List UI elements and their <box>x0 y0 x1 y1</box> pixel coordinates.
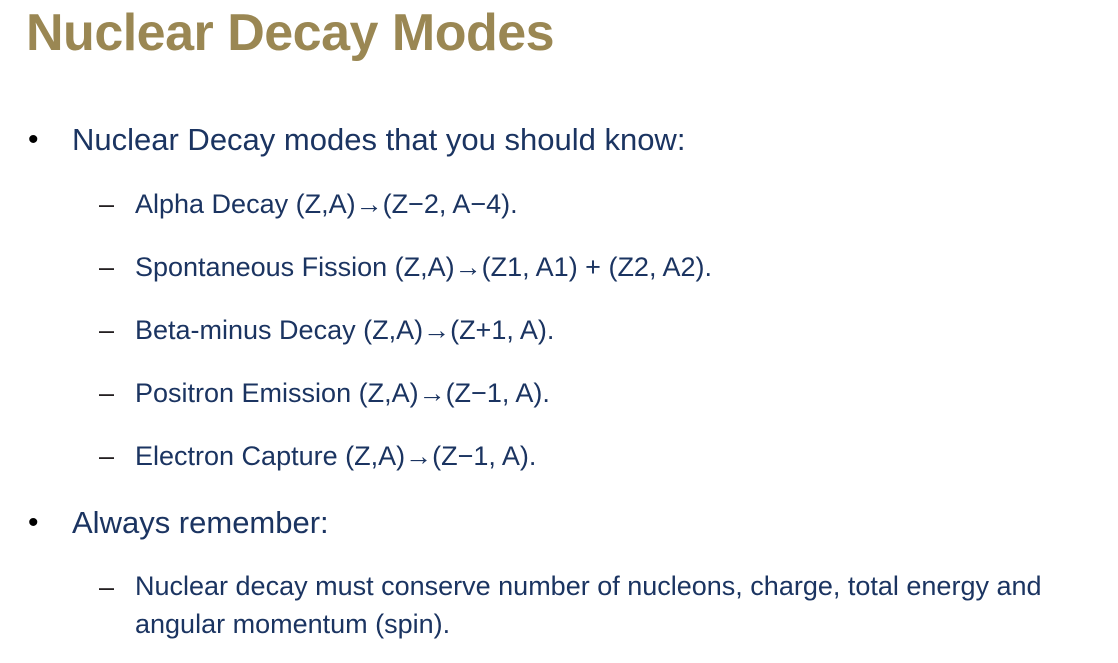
bullet-dash-icon: – <box>99 436 121 477</box>
list-item-label: Beta-minus Decay (Z,A)→(Z+1, A). <box>135 315 554 345</box>
page-title: Nuclear Decay Modes <box>26 2 554 64</box>
slide-canvas: Nuclear Decay Modes • Nuclear Decay mode… <box>0 0 1118 663</box>
bullet-dash-icon: – <box>99 373 121 414</box>
list-item: – Electron Capture (Z,A)→(Z−1, A). <box>0 436 1118 477</box>
list-item: • Nuclear Decay modes that you should kn… <box>0 118 1118 162</box>
list-item-label: Spontaneous Fission (Z,A)→(Z1, A1) + (Z2… <box>135 252 712 282</box>
bullet-list: • Nuclear Decay modes that you should kn… <box>0 118 1118 643</box>
list-item: – Nuclear decay must conserve number of … <box>0 567 1118 643</box>
list-item-label: Nuclear decay must conserve number of nu… <box>135 571 1042 639</box>
list-item: – Positron Emission (Z,A)→(Z−1, A). <box>0 373 1118 414</box>
section-spacer <box>0 477 1118 501</box>
bullet-dash-icon: – <box>99 184 121 225</box>
list-item-label: Nuclear Decay modes that you should know… <box>72 122 685 157</box>
list-item-label: Electron Capture (Z,A)→(Z−1, A). <box>135 441 536 471</box>
list-item-label: Alpha Decay (Z,A)→(Z−2, A−4). <box>135 189 518 219</box>
bullet-dash-icon: – <box>99 567 121 608</box>
bullet-dot-icon: • <box>28 118 42 162</box>
list-item: • Always remember: <box>0 501 1118 545</box>
bullet-dash-icon: – <box>99 247 121 288</box>
list-item: – Spontaneous Fission (Z,A)→(Z1, A1) + (… <box>0 247 1118 288</box>
list-item: – Alpha Decay (Z,A)→(Z−2, A−4). <box>0 184 1118 225</box>
list-item: – Beta-minus Decay (Z,A)→(Z+1, A). <box>0 310 1118 351</box>
list-item-label: Positron Emission (Z,A)→(Z−1, A). <box>135 378 550 408</box>
bullet-dash-icon: – <box>99 310 121 351</box>
bullet-dot-icon: • <box>28 501 42 545</box>
list-item-label: Always remember: <box>72 505 329 540</box>
